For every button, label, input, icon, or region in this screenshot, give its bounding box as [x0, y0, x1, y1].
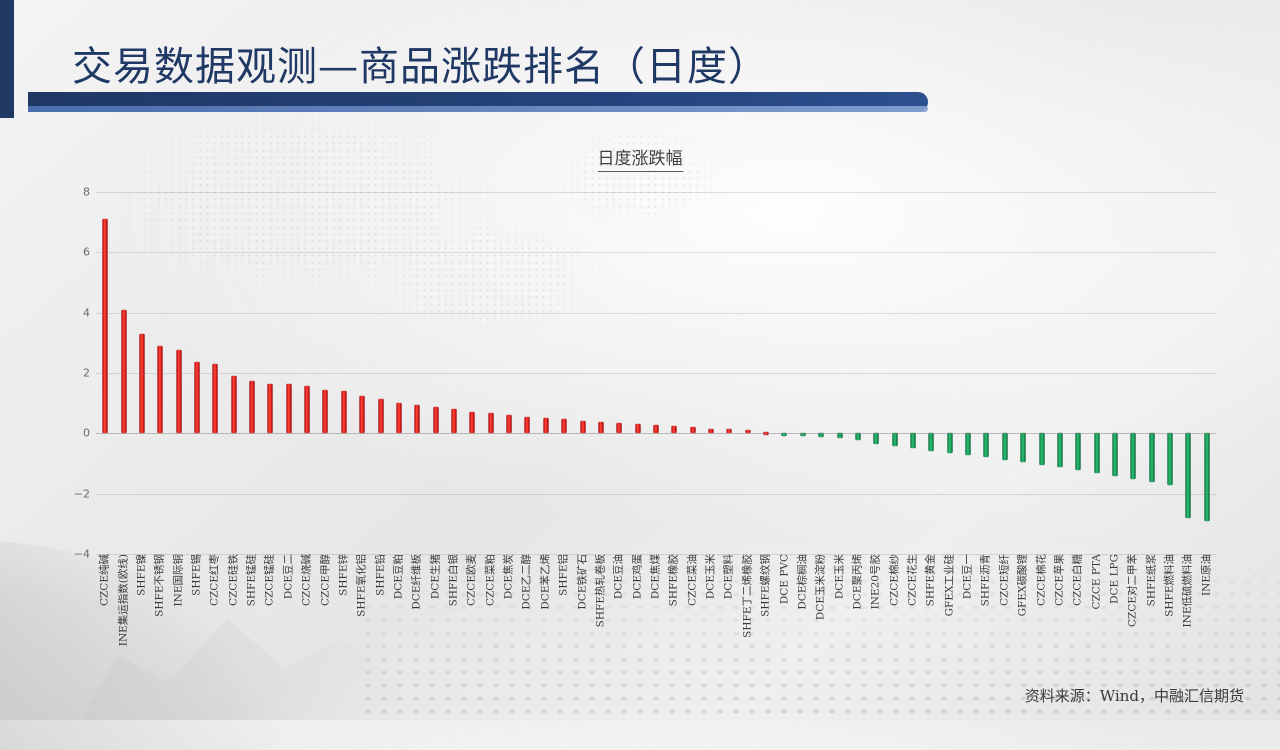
chart-title: 日度涨跌幅 [0, 144, 1280, 169]
chart-y-tick-label: −4 [74, 548, 90, 561]
chart-x-tick-label: SHFE黄金 [926, 554, 937, 606]
chart-title-text: 日度涨跌幅 [598, 149, 683, 172]
chart-x-tick-label: CZCE锰硅 [265, 554, 276, 606]
chart-bar [1021, 433, 1026, 462]
chart-bar [121, 310, 126, 434]
chart-bar [1002, 433, 1007, 460]
chart-x-tick-label: SHFE铝 [559, 554, 570, 596]
chart-x-tick-label: SHFE不锈钢 [155, 554, 166, 617]
chart-x-tick-label: SHFE白银 [449, 554, 460, 606]
chart-gridline [96, 192, 1216, 193]
chart-y-tick-label: 8 [83, 186, 90, 199]
chart-gridline [96, 252, 1216, 253]
chart-x-tick-label: SHFE氧化铝 [357, 554, 368, 617]
chart-bar [507, 415, 512, 433]
chart-x-tick-label: DCE棕榈油 [797, 554, 808, 610]
chart-bar [1168, 433, 1173, 484]
chart-x-tick-label: CZCE烧碱 [302, 554, 313, 606]
chart-x-tick-label: SHFE橡胶 [669, 554, 680, 606]
chart-x-tick-label: CZCE菜粕 [485, 554, 496, 606]
chart-x-tick-label: DCE LPG [1110, 554, 1121, 604]
chart-bar [305, 386, 310, 434]
chart-x-tick-label: DCE玉米 [834, 554, 845, 599]
chart-x-tick-label: SHFE镍 [136, 554, 147, 596]
chart-x-tick-label: CZCE纯碱 [100, 554, 111, 606]
chart-x-tick-label: INE原油 [1201, 554, 1212, 596]
chart-x-tick-label: SHFE铅 [375, 554, 386, 596]
chart-bar [231, 376, 236, 433]
chart-x-tick-label: CZCE菜油 [687, 554, 698, 606]
chart-x-tick-label: DCE焦炭 [504, 554, 515, 599]
chart-bar [250, 381, 255, 434]
page-title: 交易数据观测—商品涨跌排名（日度） [72, 34, 769, 92]
chart-bar [966, 433, 971, 455]
chart-x-tick-label: SHFE燃料油 [1165, 554, 1176, 617]
chart-x-tick-label: SHFE沥青 [981, 554, 992, 606]
chart-x-tick-label: SHFE热轧卷板 [595, 554, 606, 627]
chart-bar [1039, 433, 1044, 464]
chart-bar [1057, 433, 1062, 467]
chart-bar [452, 409, 457, 434]
chart-x-axis-labels: CZCE纯碱INE集运指数(欧线)SHFE镍SHFE不锈钢INE国际铜SHFE锡… [96, 554, 1216, 555]
chart-bar [947, 433, 952, 452]
chart-bar [341, 391, 346, 433]
chart-bar [323, 390, 328, 434]
chart-x-tick-label: CZCE白糖 [1073, 554, 1084, 606]
chart-container: 日度涨跌幅 86420−2−4 CZCE纯碱INE集运指数(欧线)SHFE镍SH… [0, 130, 1280, 570]
chart-x-tick-label: CZCE甲醇 [320, 554, 331, 606]
chart-bar [286, 384, 291, 433]
chart-x-tick-label: CZCE硅铁 [228, 554, 239, 606]
chart-x-tick-label: SHFE纸浆 [1146, 554, 1157, 606]
chart-bar [525, 417, 530, 434]
source-note: 资料来源：Wind，中融汇信期货 [1025, 685, 1244, 706]
chart-x-tick-label: SHFE锡 [191, 554, 202, 596]
chart-bar [396, 403, 401, 434]
chart-bar [1131, 433, 1136, 478]
chart-x-tick-label: DCE豆一 [963, 554, 974, 599]
chart-x-tick-label: DCE PVC [779, 554, 790, 604]
chart-x-tick-label: DCE生猪 [430, 554, 441, 599]
chart-y-tick-label: 2 [83, 367, 90, 380]
chart-x-tick-label: INE集运指数(欧线) [118, 554, 129, 646]
chart-bar [378, 399, 383, 434]
chart-bar [1094, 433, 1099, 472]
chart-x-tick-label: CZCE棉花 [1036, 554, 1047, 606]
chart-bar [929, 433, 934, 450]
header-accent-bar [28, 92, 928, 112]
chart-x-tick-label: SHFE锰硅 [247, 554, 258, 606]
chart-bar [158, 346, 163, 433]
chart-x-tick-label: SHFE锌 [338, 554, 349, 596]
chart-y-tick-label: −2 [74, 487, 90, 500]
chart-x-tick-label: DCE塑料 [724, 554, 735, 599]
chart-bar [562, 419, 567, 433]
chart-bar [1149, 433, 1154, 481]
chart-bar [1076, 433, 1081, 470]
chart-x-tick-label: DCE玉米 [706, 554, 717, 599]
chart-x-tick-label: CZCE对二甲苯 [1128, 554, 1139, 627]
chart-bar [1112, 433, 1117, 475]
chart-x-tick-label: CZCE红枣 [210, 554, 221, 606]
chart-x-tick-label: DCE豆二 [283, 554, 294, 599]
chart-x-tick-label: SHFE螺纹钢 [761, 554, 772, 617]
chart-bar [1204, 433, 1209, 521]
chart-bar [672, 426, 677, 433]
chart-bar [653, 425, 658, 433]
chart-bar [910, 433, 915, 448]
chart-x-tick-label: CZCE PTA [1091, 554, 1102, 609]
chart-x-tick-label: DCE鸡蛋 [632, 554, 643, 599]
chart-gridline [96, 313, 1216, 314]
chart-x-tick-label: GFEX碳酸锂 [1018, 554, 1029, 616]
chart-x-tick-label: DCE铁矿石 [577, 554, 588, 610]
chart-x-tick-label: INE国际铜 [173, 554, 184, 607]
chart-x-tick-label: DCE纤维板 [412, 554, 423, 610]
chart-x-tick-label: CZCE花生 [908, 554, 919, 606]
chart-x-tick-label: INE20号胶 [871, 554, 882, 609]
chart-bar [268, 384, 273, 434]
chart-gridline [96, 433, 1216, 434]
chart-x-tick-label: INE低硫燃料油 [1183, 554, 1194, 628]
chart-bar [470, 412, 475, 434]
chart-gridline [96, 373, 1216, 374]
chart-x-tick-label: DCE豆粕 [393, 554, 404, 599]
chart-bar [213, 364, 218, 433]
chart-x-tick-label: CZCE欧麦 [467, 554, 478, 606]
chart-x-tick-label: CZCE棉纱 [889, 554, 900, 606]
chart-bar [892, 433, 897, 446]
chart-bar [103, 219, 108, 433]
chart-plot-area: 86420−2−4 [96, 192, 1216, 554]
chart-bar [984, 433, 989, 457]
chart-x-tick-label: CZCE短纤 [999, 554, 1010, 606]
chart-bar [360, 396, 365, 434]
chart-x-tick-label: DCE豆油 [614, 554, 625, 599]
chart-gridline [96, 494, 1216, 495]
chart-bar [635, 424, 640, 433]
chart-bar [139, 334, 144, 434]
chart-bar [598, 422, 603, 433]
chart-y-tick-label: 4 [83, 306, 90, 319]
chart-bar [874, 433, 879, 443]
chart-bar [617, 423, 622, 433]
chart-bar [433, 407, 438, 434]
chart-bar [176, 350, 181, 433]
chart-x-tick-label: DCE玉米淀粉 [816, 554, 827, 620]
chart-x-tick-label: CZCE苹果 [1054, 554, 1065, 606]
chart-bar [580, 421, 585, 434]
chart-x-tick-label: GFEX工业硅 [944, 554, 955, 616]
chart-bar [1186, 433, 1191, 517]
chart-x-tick-label: DCE乙二醇 [522, 554, 533, 610]
chart-x-tick-label: DCE焦煤 [651, 554, 662, 599]
chart-y-tick-label: 6 [83, 246, 90, 259]
chart-y-tick-label: 0 [83, 427, 90, 440]
chart-x-tick-label: SHFE丁二烯橡胶 [742, 554, 753, 638]
chart-x-tick-label: DCE苯乙烯 [540, 554, 551, 610]
chart-bar [488, 413, 493, 433]
chart-bar [415, 405, 420, 434]
chart-bar [543, 418, 548, 433]
chart-x-tick-label: DCE聚丙烯 [852, 554, 863, 610]
